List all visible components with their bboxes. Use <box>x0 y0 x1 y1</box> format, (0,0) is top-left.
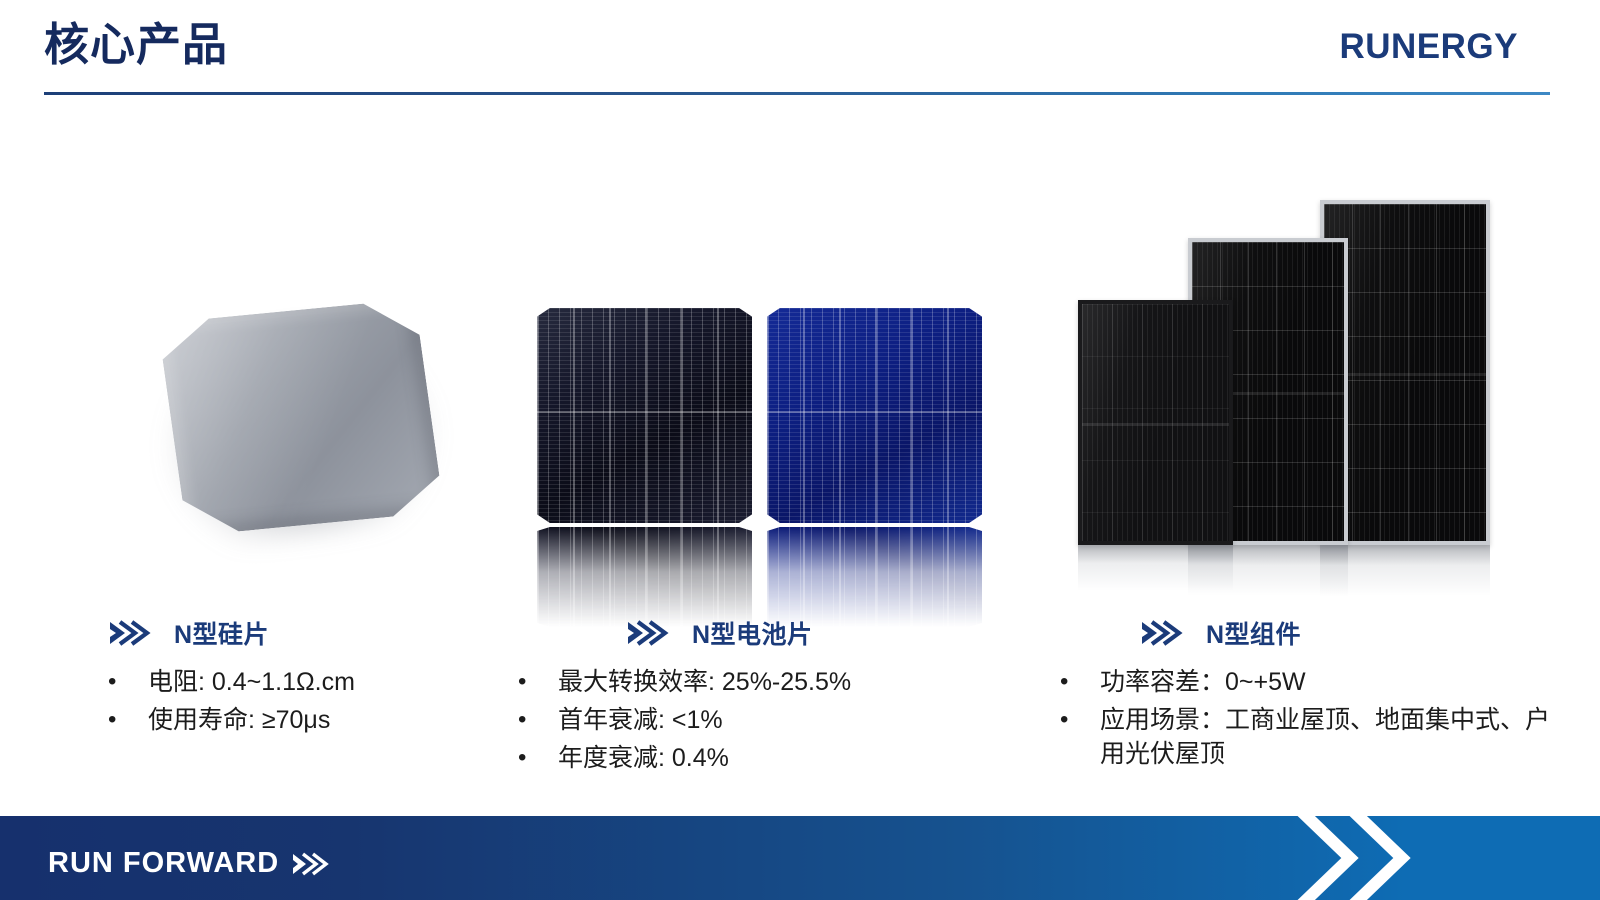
bullet-marker: • <box>1060 703 1100 737</box>
product-heading-wafer: N型硅片 <box>108 615 269 651</box>
module-gloss <box>1082 304 1229 541</box>
triple-chevron-icon <box>108 620 160 646</box>
runergy-logo: RUNERGY <box>1339 27 1518 67</box>
product-column-cell: N型电池片 • 最大转换效率: 25%-25.5% • 首年衰减: <1% • … <box>500 120 1040 800</box>
product-heading-module: N型组件 <box>1140 615 1301 651</box>
triple-chevron-icon <box>626 620 678 646</box>
bullet-marker: • <box>108 703 148 737</box>
cell-busbars <box>767 308 982 523</box>
bullet-marker: • <box>518 703 558 737</box>
module-laminate <box>1324 204 1486 541</box>
bullet-marker: • <box>518 741 558 775</box>
module-reflection <box>1320 545 1490 603</box>
bullet-text: 功率容差：0~+5W <box>1100 665 1570 699</box>
bullet-marker: • <box>108 665 148 699</box>
all-black-module-photo <box>1078 300 1233 545</box>
bullet-text: 最大转换效率: 25%-25.5% <box>558 665 1018 699</box>
product-heading-label: N型组件 <box>1206 615 1301 651</box>
header-divider <box>44 92 1550 95</box>
footer-tagline-text: RUN FORWARD <box>48 847 279 880</box>
cell-face <box>767 308 982 523</box>
list-item: • 电阻: 0.4~1.1Ω.cm <box>108 665 488 699</box>
cell-midline <box>537 411 752 413</box>
list-item: • 使用寿命: ≥70μs <box>108 703 488 737</box>
product-column-module: N型组件 • 功率容差：0~+5W • 应用场景：工商业屋顶、地面集中式、户用光… <box>1040 120 1580 800</box>
list-item: • 最大转换效率: 25%-25.5% <box>518 665 1018 699</box>
double-chevron-icon <box>1294 816 1484 900</box>
slide-header: 核心产品 RUNERGY <box>0 0 1600 100</box>
cell-reflection <box>537 527 752 627</box>
bullet-text: 电阻: 0.4~1.1Ω.cm <box>148 665 488 699</box>
page-title: 核心产品 <box>44 17 228 73</box>
footer-tagline: RUN FORWARD <box>48 847 335 880</box>
bullet-marker: • <box>518 665 558 699</box>
module-gloss <box>1324 204 1486 541</box>
module-laminate <box>1082 304 1229 541</box>
product-bullets-module: • 功率容差：0~+5W • 应用场景：工商业屋顶、地面集中式、户用光伏屋顶 <box>1060 665 1570 775</box>
cell-midline <box>767 411 982 413</box>
bullet-marker: • <box>1060 665 1100 699</box>
bullet-text: 应用场景：工商业屋顶、地面集中式、户用光伏屋顶 <box>1100 703 1570 771</box>
triple-chevron-icon <box>1140 620 1192 646</box>
bullet-text: 使用寿命: ≥70μs <box>148 703 488 737</box>
product-heading-cell: N型电池片 <box>626 615 813 651</box>
product-bullets-cell: • 最大转换效率: 25%-25.5% • 首年衰减: <1% • 年度衰减: … <box>518 665 1018 779</box>
product-heading-label: N型硅片 <box>174 615 269 651</box>
wafer-sheen <box>158 299 445 537</box>
product-column-wafer: N型硅片 • 电阻: 0.4~1.1Ω.cm • 使用寿命: ≥70μs <box>40 120 510 800</box>
list-item: • 功率容差：0~+5W <box>1060 665 1570 699</box>
list-item: • 年度衰减: 0.4% <box>518 741 1018 775</box>
cell-reflection <box>767 527 982 627</box>
silicon-wafer-photo <box>150 300 470 550</box>
product-bullets-wafer: • 电阻: 0.4~1.1Ω.cm • 使用寿命: ≥70μs <box>108 665 488 741</box>
slide-footer: RUN FORWARD <box>0 816 1600 900</box>
list-item: • 应用场景：工商业屋顶、地面集中式、户用光伏屋顶 <box>1060 703 1570 771</box>
triple-chevron-icon <box>291 851 335 877</box>
list-item: • 首年衰减: <1% <box>518 703 1018 737</box>
bullet-text: 首年衰减: <1% <box>558 703 1018 737</box>
cell-face <box>537 308 752 523</box>
product-heading-label: N型电池片 <box>692 615 813 651</box>
cell-busbars <box>537 308 752 523</box>
bullet-text: 年度衰减: 0.4% <box>558 741 1018 775</box>
